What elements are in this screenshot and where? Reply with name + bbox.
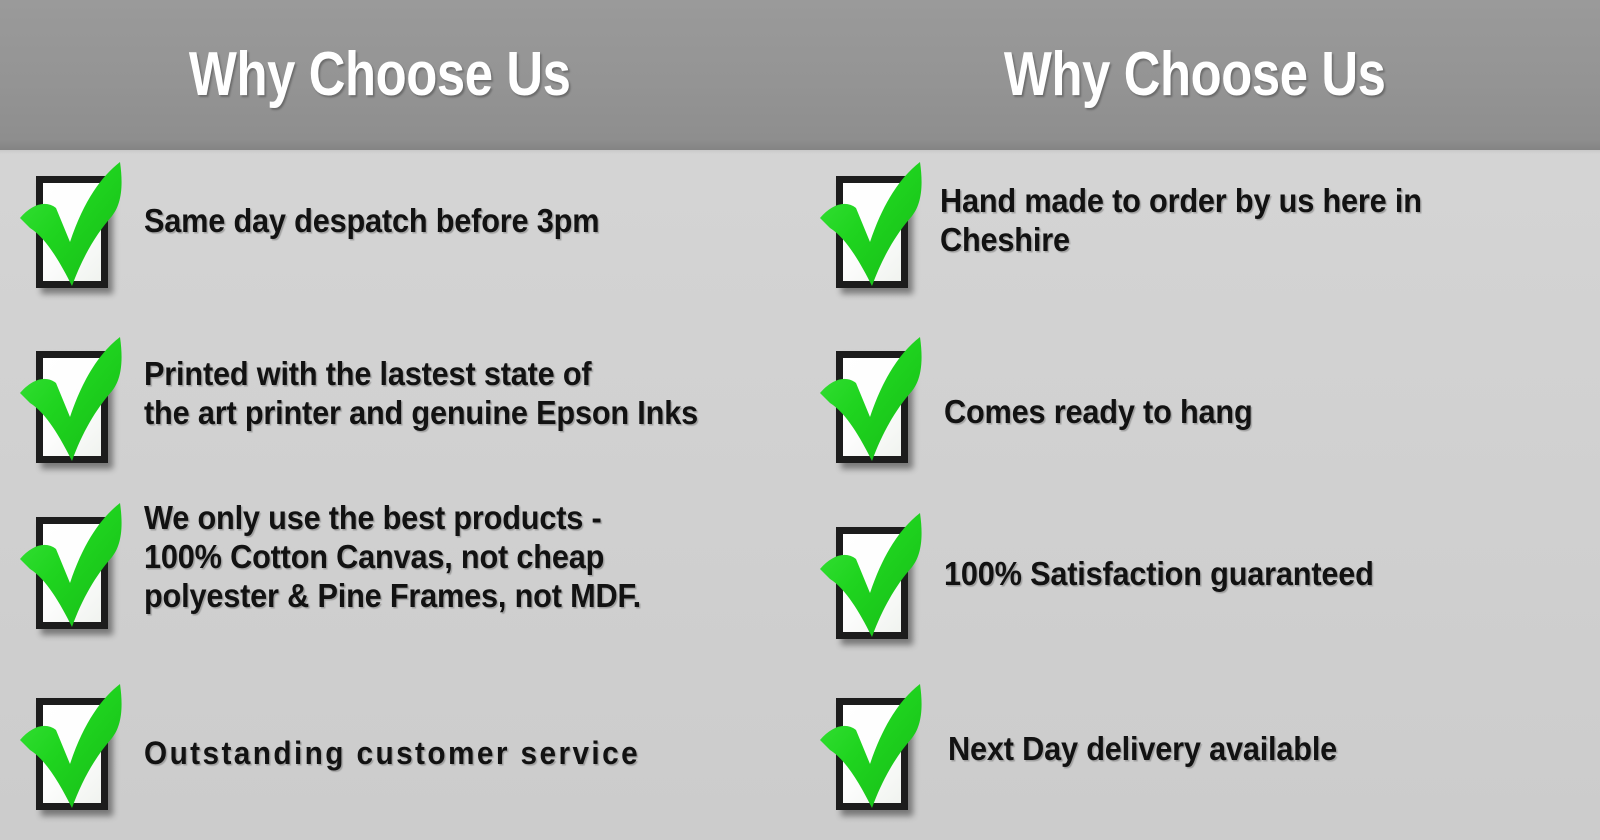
feature-item-customer-service: Outstanding customer service	[12, 678, 677, 818]
feature-item-next-day-delivery: Next Day delivery available	[812, 678, 1366, 818]
check-mark-icon	[812, 156, 930, 296]
page-title-left: Why Choose Us	[189, 44, 571, 106]
feature-text: Hand made to order by us here in Cheshir…	[940, 182, 1422, 260]
feature-item-satisfaction-guaranteed: 100% Satisfaction guaranteed	[812, 507, 1406, 647]
check-mark-icon	[812, 507, 930, 647]
feature-text: We only use the best products - 100% Cot…	[144, 499, 641, 616]
feature-item-hand-made: Hand made to order by us here in Cheshir…	[812, 156, 1458, 296]
green-check-icon	[812, 156, 930, 296]
page-title-right: Why Choose Us	[1004, 44, 1386, 106]
check-mark-icon	[812, 331, 930, 471]
check-mark-icon	[12, 156, 130, 296]
feature-text: Comes ready to hang	[944, 393, 1253, 432]
green-check-icon	[12, 156, 130, 296]
feature-columns: Same day despatch before 3pm Printed wit…	[0, 154, 1600, 840]
feature-item-best-products: We only use the best products - 100% Cot…	[12, 497, 678, 637]
feature-item-epson-inks: Printed with the lastest state of the ar…	[12, 331, 740, 471]
check-mark-icon	[12, 678, 130, 818]
feature-text: 100% Satisfaction guaranteed	[944, 555, 1374, 594]
green-check-icon	[12, 678, 130, 818]
green-check-icon	[812, 331, 930, 471]
why-choose-us-banner: Why Choose Us Why Choose Us	[0, 0, 1600, 840]
feature-item-same-day-despatch: Same day despatch before 3pm	[12, 156, 634, 296]
green-check-icon	[812, 507, 930, 647]
header-cell-left: Why Choose Us	[0, 0, 800, 150]
header-cell-right: Why Choose Us	[800, 0, 1600, 150]
green-check-icon	[812, 678, 930, 818]
left-feature-column: Same day despatch before 3pm Printed wit…	[0, 154, 800, 840]
right-feature-column: Hand made to order by us here in Cheshir…	[800, 154, 1600, 840]
check-mark-icon	[812, 678, 930, 818]
check-mark-icon	[12, 497, 130, 637]
check-mark-icon	[12, 331, 130, 471]
feature-text: Same day despatch before 3pm	[144, 202, 599, 241]
green-check-icon	[12, 497, 130, 637]
feature-item-ready-to-hang: Comes ready to hang	[812, 331, 1276, 471]
green-check-icon	[12, 331, 130, 471]
feature-text: Outstanding customer service	[144, 735, 640, 773]
header-band: Why Choose Us Why Choose Us	[0, 0, 1600, 150]
feature-text: Printed with the lastest state of the ar…	[144, 355, 698, 433]
feature-text: Next Day delivery available	[948, 730, 1337, 769]
